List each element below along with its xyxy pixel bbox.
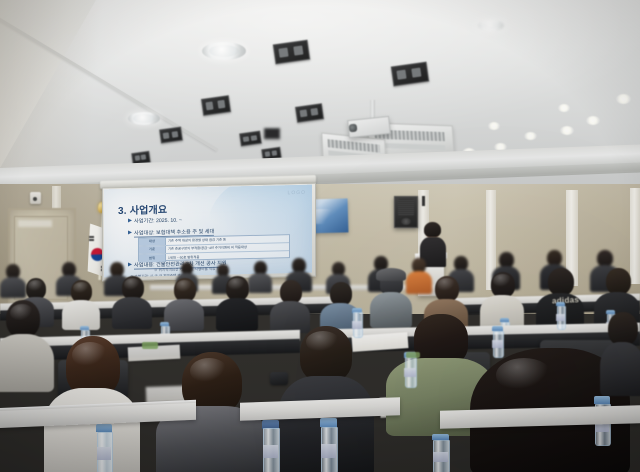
water-bottle (556, 302, 565, 328)
audience-member (216, 276, 258, 328)
wall-speaker (394, 196, 418, 228)
desk-item (406, 352, 420, 358)
bullet-marker-icon: ▶ (128, 218, 132, 224)
ceiling-lamp (560, 126, 574, 135)
flag-trigram-icon (89, 236, 94, 238)
ceiling-downlight (202, 42, 246, 60)
water-bottle (262, 420, 279, 472)
ceiling-lamp (558, 104, 570, 112)
wall-camera (30, 192, 41, 204)
water-bottle (492, 326, 503, 356)
flag-trigram-icon (89, 239, 94, 241)
speaker-bracket (422, 196, 425, 206)
slide-bullet-text: 사업기간: 2025. 10. ~ (134, 217, 182, 225)
audience-member (62, 280, 100, 328)
audience-member (600, 312, 640, 392)
ceiling-lamp (586, 116, 600, 125)
ceiling-lamp (524, 132, 537, 140)
presenter-hair (424, 222, 441, 237)
slide-bullet: ▶ 사업기간: 2025. 10. ~ (128, 217, 182, 225)
slide-table: 대상 기존 주택 대상의 환경별 상태 점검 기준 등 기준 기존 준공구분의 … (138, 234, 290, 261)
ceiling-lamp (616, 94, 631, 104)
water-bottle (432, 434, 449, 472)
seminar-room-photo: LOGO 3. 사업개요 ▶ 사업기간: 2025. 10. ~ ▶ 사업대상:… (0, 0, 640, 472)
water-bottle (320, 418, 337, 472)
cap-icon (376, 268, 406, 281)
ceiling-downlight (478, 20, 504, 31)
projection-screen: LOGO 3. 사업개요 ▶ 사업기간: 2025. 10. ~ ▶ 사업대상:… (104, 185, 312, 278)
slide-title: 3. 사업개요 (118, 201, 167, 217)
table-cell-key: 기준 (139, 246, 166, 254)
table-cell-key: 대상 (139, 238, 166, 246)
wristwatch-icon (270, 372, 288, 385)
desk-item (142, 342, 158, 349)
ceiling-downlight (128, 112, 160, 125)
audience-member (112, 276, 152, 326)
slide-logo: LOGO (288, 190, 306, 196)
audience-member (164, 278, 204, 328)
ceiling-lamp (488, 122, 500, 130)
projector-lens (349, 124, 358, 133)
ceiling-spot-fixture (264, 128, 280, 139)
audience-member (270, 280, 310, 330)
door-sign (18, 220, 52, 227)
water-bottle (96, 424, 112, 472)
bullet-marker-icon: ▶ (128, 230, 132, 236)
